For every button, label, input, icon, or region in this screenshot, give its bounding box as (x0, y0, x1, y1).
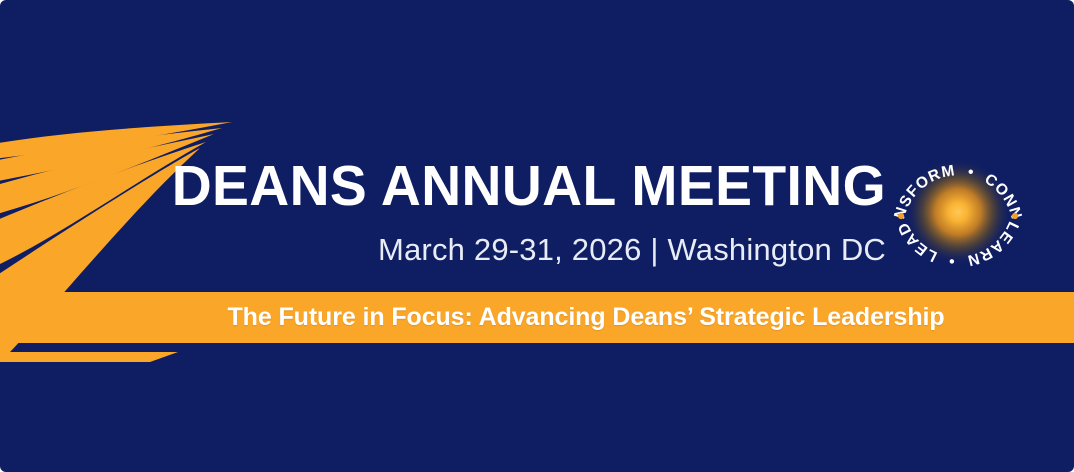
headline-block: DEANS ANNUAL MEETING March 29-31, 2026 |… (0, 158, 886, 265)
deans-annual-meeting-banner: DEANS ANNUAL MEETING March 29-31, 2026 |… (0, 0, 1074, 472)
theme-tagline: The Future in Focus: Advancing Deans’ St… (227, 303, 944, 332)
emblem-dot-left (898, 213, 904, 219)
theme-band: The Future in Focus: Advancing Deans’ St… (0, 292, 1074, 343)
emblem-dot-right (1012, 213, 1018, 219)
sunburst-emblem: TRANSFORM • CONNECT LEARN • LEAD (888, 142, 1028, 282)
swoosh-base-wedge (0, 352, 178, 362)
page-title: DEANS ANNUAL MEETING (27, 158, 886, 215)
date-location-subtitle: March 29-31, 2026 | Washington DC (0, 234, 886, 265)
